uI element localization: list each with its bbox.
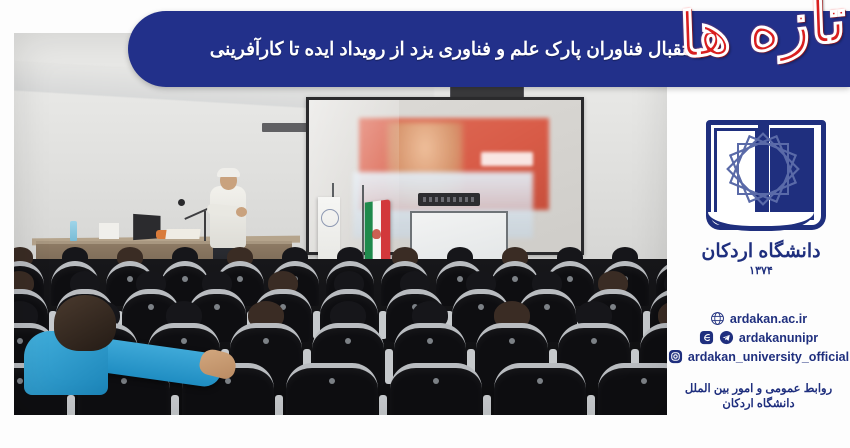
instagram-link[interactable]: ardakan_university_official <box>668 349 849 364</box>
eitaa-icon <box>699 330 714 345</box>
instagram-icon <box>668 349 683 364</box>
presenter-hand <box>236 207 247 217</box>
seat-knob <box>478 304 484 310</box>
auditorium-seat <box>598 363 667 415</box>
seat-knob <box>237 276 243 282</box>
telegram-icon <box>719 330 734 345</box>
seat-knob <box>509 338 515 344</box>
presenter-cap <box>217 168 240 177</box>
seat-knob <box>512 276 518 282</box>
seat-armrest <box>171 395 179 416</box>
seat-knob <box>148 304 154 310</box>
website-handle: ardakan.ac.ir <box>730 312 807 326</box>
seat-armrest <box>483 395 491 416</box>
university-founding-year: ۱۳۷۴ <box>690 264 832 277</box>
seat-knob <box>17 338 23 344</box>
seat-armrest <box>275 395 283 416</box>
public-relations-footer: روابط عمومی و امور بین الملل دانشگاه ارد… <box>667 382 850 412</box>
seat-knob <box>127 276 133 282</box>
seat-knob <box>345 338 351 344</box>
seat-armrest <box>379 395 387 416</box>
auditorium-seat <box>390 363 482 415</box>
website-link[interactable]: ardakan.ac.ir <box>710 311 807 326</box>
presenter-body <box>210 186 246 248</box>
seat-knob <box>181 338 187 344</box>
seat-knob <box>537 378 543 384</box>
seat-knob <box>433 378 439 384</box>
seat-armrest <box>587 395 595 416</box>
open-book-icon <box>706 112 816 224</box>
iran-flag-emblem <box>372 229 381 239</box>
auditorium-seat <box>494 363 586 415</box>
university-name: دانشگاه اردکان <box>690 240 832 263</box>
seat-knob <box>591 338 597 344</box>
instagram-handle: ardakan_university_official <box>688 350 849 364</box>
microphone-stand <box>204 211 206 241</box>
seat-knob <box>610 304 616 310</box>
ceiling-speaker <box>418 193 480 206</box>
seat-knob <box>214 304 220 310</box>
seat-knob <box>457 276 463 282</box>
auditorium-seat <box>286 363 378 415</box>
university-logo <box>706 112 816 232</box>
event-photo <box>14 33 667 415</box>
seat-knob <box>263 338 269 344</box>
seat-knob <box>544 304 550 310</box>
seat-knob <box>329 378 335 384</box>
slide-text-block <box>481 152 533 166</box>
messaging-handle: ardakanunipr <box>739 331 818 345</box>
paper-stack <box>99 223 119 239</box>
page-title: استقبال فناوران پارک علم و فناوری یزد از… <box>210 38 769 60</box>
headline-banner: استقبال فناوران پارک علم و فناوری یزد از… <box>128 11 850 87</box>
seat-knob <box>427 338 433 344</box>
messaging-links[interactable]: ardakanunipr <box>699 330 818 345</box>
seat-knob <box>641 378 647 384</box>
documents <box>165 229 200 239</box>
news-banner-page: استقبال فناوران پارک علم و فناوری یزد از… <box>0 0 850 448</box>
foreground-person-head <box>54 295 116 351</box>
institution-flag-emblem <box>321 209 339 227</box>
photo-scene <box>14 33 667 415</box>
seat-armrest <box>67 395 75 416</box>
social-links: ardakan.ac.ir ardakanunipr ardakan_unive… <box>667 311 850 364</box>
seat-knob <box>121 378 127 384</box>
water-bottle <box>70 221 77 241</box>
seat-knob <box>182 276 188 282</box>
seat-knob <box>17 378 23 384</box>
globe-icon <box>710 311 725 326</box>
seat-knob <box>567 276 573 282</box>
microphone-head <box>178 199 185 206</box>
islamic-star-icon <box>728 134 794 200</box>
